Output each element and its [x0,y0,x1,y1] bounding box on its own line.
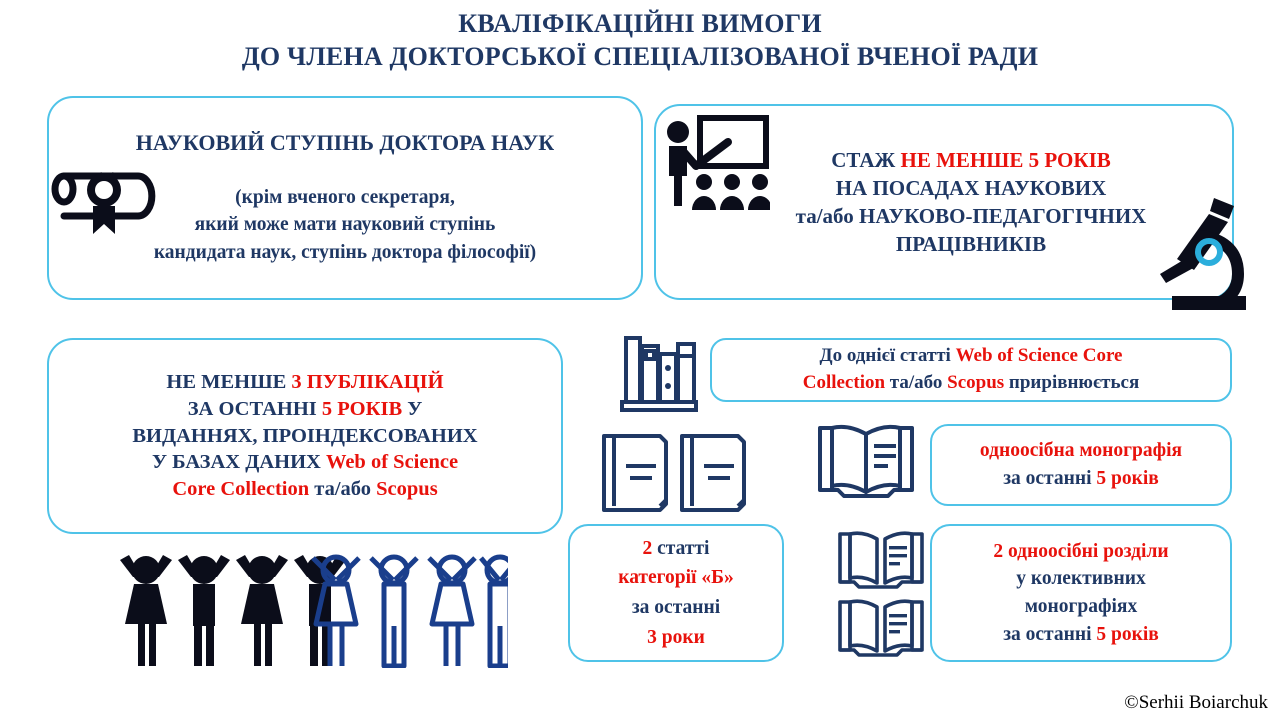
title-line-1: КВАЛІФІКАЦІЙНІ ВИМОГИ [0,8,1280,41]
category-b-line-4: 3 роки [647,627,705,648]
publications-line-5-conj: та/або [309,478,376,500]
chapters-line-4-highlight: 5 років [1096,624,1158,645]
publications-line-2: ЗА ОСТАННІ 5 РОКІВ У [188,398,423,420]
monograph-line-2: за останні 5 років [1003,468,1159,489]
chapters-text-block: 2 одноосібні розділи у колективних моног… [932,538,1230,649]
requirement-card-chapters: 2 одноосібні розділи у колективних моног… [930,524,1232,662]
chapters-line-4-prefix: за останні [1003,624,1096,645]
experience-line-1-prefix: СТАЖ [831,148,900,172]
degree-heading: НАУКОВИЙ СТУПІНЬ ДОКТОРА НАУК [59,129,631,158]
publications-text-block: НЕ МЕНШЕ 3 ПУБЛІКАЦІЙ ЗА ОСТАННІ 5 РОКІВ… [49,369,561,502]
chapters-line-1: 2 одноосібні розділи [993,541,1168,562]
monograph-line-1: одноосібна монографія [980,440,1182,461]
microscope-icon [1152,196,1256,314]
open-book-icon [812,418,920,510]
requirement-card-equivalence: До однієї статті Web of Science Core Col… [710,338,1232,402]
equivalence-line-1-db: Web of Science Core [956,345,1123,366]
requirement-card-publications: НЕ МЕНШЕ 3 ПУБЛІКАЦІЙ ЗА ОСТАННІ 5 РОКІВ… [47,338,563,534]
category-b-text-block: 2 статті категорії «Б» за останні 3 роки [570,534,782,653]
publications-line-4-prefix: У БАЗАХ ДАНИХ [152,451,326,473]
diploma-scroll-icon [48,162,160,246]
chapters-line-3: монографіях [1025,596,1137,617]
monograph-line-2-prefix: за останні [1003,468,1096,489]
experience-line-1-highlight: НЕ МЕНШЕ 5 РОКІВ [901,148,1111,172]
chapters-line-2: у колективних [1016,568,1146,589]
category-b-line-2: категорії «Б» [618,567,734,588]
infographic-canvas: КВАЛІФІКАЦІЙНІ ВИМОГИ ДО ЧЛЕНА ДОКТОРСЬК… [0,0,1280,720]
equivalence-text-block: До однієї статті Web of Science Core Col… [712,343,1230,396]
publications-line-5-db1: Core Collection [172,478,309,500]
equivalence-line-2-conj: та/або [885,372,947,393]
equivalence-line-2: Collection та/або Scopus прирівнюється [803,372,1140,393]
experience-line-1: СТАЖ НЕ МЕНШЕ 5 РОКІВ [831,148,1111,172]
title-line-2: ДО ЧЛЕНА ДОКТОРСЬКОЇ СПЕЦІАЛІЗОВАНОЇ ВЧЕ… [0,41,1280,74]
category-b-line-1: 2 статті [643,538,710,559]
publications-line-4: У БАЗАХ ДАНИХ Web of Science [152,451,458,473]
teacher-board-icon [658,112,770,216]
experience-line-3: та/або НАУКОВО-ПЕДАГОГІЧНИХ [796,204,1147,228]
publications-line-1-highlight: 3 ПУБЛІКАЦІЙ [291,371,443,393]
category-b-count: 2 [643,538,653,559]
monograph-text-block: одноосібна монографія за останні 5 років [932,437,1230,492]
monograph-line-2-highlight: 5 років [1096,468,1158,489]
publications-line-3: ВИДАННЯХ, ПРОІНДЕКСОВАНИХ [132,425,477,447]
requirement-card-monograph: одноосібна монографія за останні 5 років [930,424,1232,506]
publications-line-2-suffix: У [402,398,422,420]
experience-line-2: НА ПОСАДАХ НАУКОВИХ [836,176,1107,200]
publications-line-1-prefix: НЕ МЕНШЕ [166,371,291,393]
publications-line-1: НЕ МЕНШЕ 3 ПУБЛІКАЦІЙ [166,371,443,393]
publications-line-2-prefix: ЗА ОСТАННІ [188,398,322,420]
publications-line-5: Core Collection та/або Scopus [172,478,437,500]
requirement-card-category-b: 2 статті категорії «Б» за останні 3 роки [568,524,784,662]
people-celebrating-icon [112,548,508,668]
category-b-line-3: за останні [632,597,720,618]
equivalence-line-2-suffix: прирівнюється [1004,372,1139,393]
experience-line-4: ПРАЦІВНИКІВ [896,232,1046,256]
two-open-books-icon [834,528,928,662]
page-title: КВАЛІФІКАЦІЙНІ ВИМОГИ ДО ЧЛЕНА ДОКТОРСЬК… [0,8,1280,73]
chapters-line-4: за останні 5 років [1003,624,1159,645]
equivalence-line-1-prefix: До однієї статті [820,345,956,366]
equivalence-line-2-db-cont: Collection [803,372,885,393]
copyright-notice: ©Serhii Boiarchuk [1124,692,1268,714]
publications-line-5-db2: Scopus [376,478,438,500]
two-closed-books-icon [598,428,750,512]
category-b-unit: статті [652,538,709,559]
equivalence-line-2-db2: Scopus [947,372,1004,393]
publications-line-4-highlight: Web of Science [326,451,458,473]
equivalence-line-1: До однієї статті Web of Science Core [820,345,1123,366]
bookshelf-icon [618,332,702,416]
publications-line-2-highlight: 5 РОКІВ [322,398,402,420]
